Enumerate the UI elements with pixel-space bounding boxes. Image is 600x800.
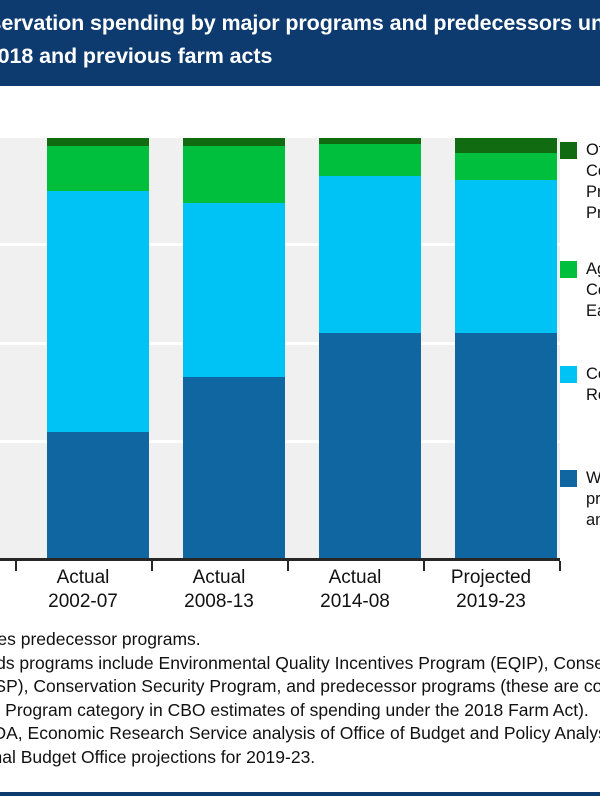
footnote-line-1: Note: Includes predecessor programs.: [0, 628, 600, 652]
footnote-line-5: Source: USDA, Economic Research Service …: [0, 722, 600, 746]
legend-swatch-other-conservation: [560, 142, 577, 159]
legend-item-working-lands[interactable]: Working lands programs and predecessors: [560, 468, 600, 531]
page-title: Conservation spending by major programs …: [0, 7, 600, 73]
bar-segment-working-lands: [455, 333, 557, 558]
x-axis-label-line: 2014-08: [287, 590, 423, 614]
legend-swatch-agricultural-easement: [560, 261, 577, 278]
bar-segment-agricultural-easement: [455, 153, 557, 180]
x-axis-label-line: Actual: [151, 566, 287, 590]
x-axis-label-line: Actual: [287, 566, 423, 590]
bar-3: [319, 138, 421, 558]
x-axis-label-1: Actual2002-07: [15, 566, 151, 614]
x-axis-label-4: Projected2019-23: [423, 566, 559, 614]
axis-tick: [559, 561, 561, 571]
x-axis-label-2: Actual2008-13: [151, 566, 287, 614]
bar-segment-other-conservation: [455, 138, 557, 153]
figure-page: Conservation spending by major programs …: [0, 0, 600, 800]
legend-label-conservation-reserve: Conservation Reserve Program: [586, 364, 600, 406]
title-bar: Conservation spending by major programs …: [0, 0, 600, 86]
bar-segment-conservation-reserve: [319, 176, 421, 334]
bar-1: [47, 138, 149, 558]
x-axis-label-line: Actual: [15, 566, 151, 590]
bar-segment-working-lands: [47, 432, 149, 558]
bottom-rule: [0, 792, 600, 796]
footnote-line-6: Congressional Budget Office projections …: [0, 746, 600, 770]
chart-legend: Other Conservation Programs and Predeces…: [560, 138, 600, 558]
bar-segment-other-conservation: [47, 138, 149, 146]
bar-2: [183, 138, 285, 558]
bar-segment-agricultural-easement: [319, 144, 421, 176]
chart-plot-area: [0, 138, 560, 558]
x-axis-label-line: 2002-07: [15, 590, 151, 614]
bar-segment-conservation-reserve: [455, 180, 557, 333]
footnotes: Note: Includes predecessor programs.Work…: [0, 628, 600, 788]
x-axis-line: [0, 558, 560, 561]
legend-item-other-conservation[interactable]: Other Conservation Programs and Predeces…: [560, 140, 600, 224]
bar-segment-other-conservation: [183, 138, 285, 146]
x-axis-label-line: 2019-23: [423, 590, 559, 614]
bar-segment-working-lands: [319, 333, 421, 558]
x-axis-label-line: Projected: [423, 566, 559, 590]
bar-segment-agricultural-easement: [47, 146, 149, 190]
x-axis-label-line: 2008-13: [151, 590, 287, 614]
footnote-line-4: Stewardship Program category in CBO esti…: [0, 699, 600, 723]
legend-item-conservation-reserve[interactable]: Conservation Reserve Program: [560, 364, 600, 406]
legend-label-other-conservation: Other Conservation Programs and Predeces…: [586, 140, 600, 224]
footnote-line-3: Program (CSP), Conservation Security Pro…: [0, 675, 600, 699]
legend-label-agricultural-easement: Agricultural Conservation Easement Progr…: [586, 259, 600, 322]
bar-segment-conservation-reserve: [183, 203, 285, 377]
legend-swatch-conservation-reserve: [560, 366, 577, 383]
footnote-line-2: Working lands programs include Environme…: [0, 652, 600, 676]
bar-segment-agricultural-easement: [183, 146, 285, 203]
bar-segment-working-lands: [183, 377, 285, 558]
bar-segment-conservation-reserve: [47, 191, 149, 433]
legend-label-working-lands: Working lands programs and predecessors: [586, 468, 600, 531]
x-axis-label-3: Actual2014-08: [287, 566, 423, 614]
bar-4: [455, 138, 557, 558]
legend-item-agricultural-easement[interactable]: Agricultural Conservation Easement Progr…: [560, 259, 600, 322]
legend-swatch-working-lands: [560, 470, 577, 487]
